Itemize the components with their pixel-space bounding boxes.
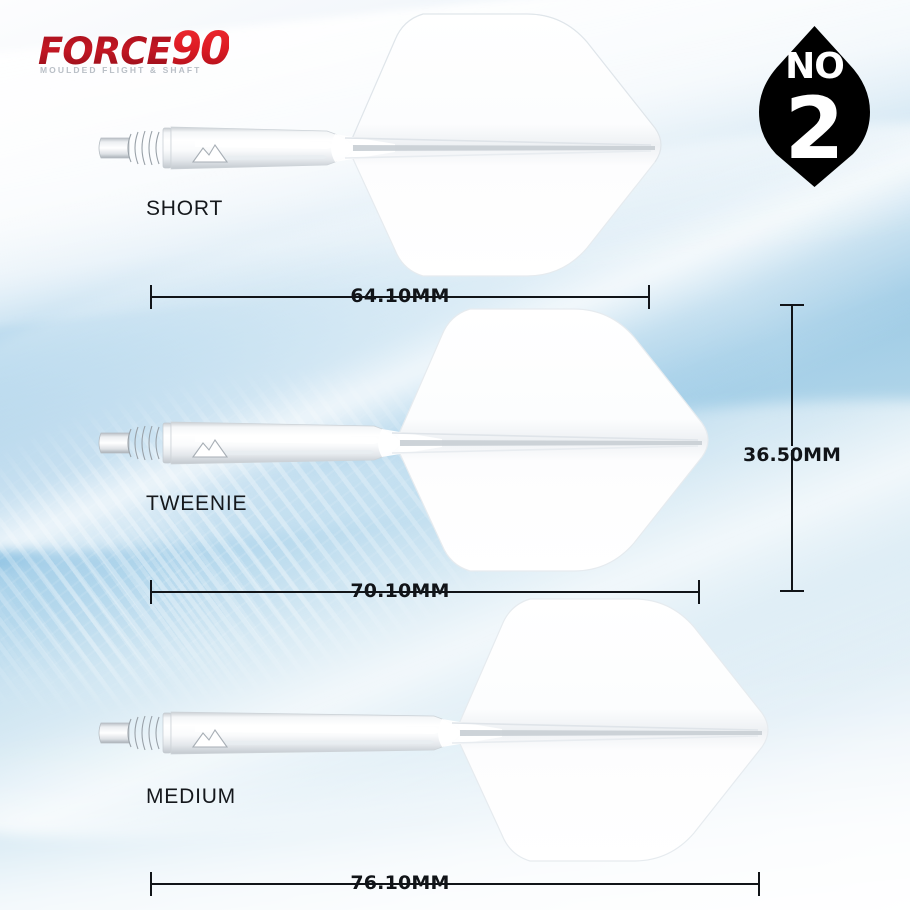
badge-number: 2 — [785, 79, 845, 179]
product-spec-image: FORCE90 MOULDED FLIGHT & SHAFT NO 2 — [0, 0, 910, 910]
dimension-cap-left — [150, 872, 152, 896]
shaft-short — [99, 127, 353, 169]
product-label-medium: MEDIUM — [146, 785, 236, 809]
shaft-thread-icon — [128, 426, 159, 460]
dimension-rule-lower — [791, 450, 793, 590]
dimension-cap-right — [758, 872, 760, 896]
shaft-medium — [99, 712, 460, 754]
dart-assembly-medium — [95, 585, 815, 885]
dart-assembly-tweenie — [95, 295, 755, 595]
shaft-thread-icon — [128, 716, 159, 750]
dimension-rule-upper — [791, 306, 793, 446]
product-label-short: SHORT — [146, 197, 223, 221]
shaft-tweenie — [99, 422, 400, 464]
product-label-tweenie: TWEENIE — [146, 492, 247, 516]
shaft-thread-icon — [128, 131, 159, 165]
dimension-cap-bottom — [780, 590, 804, 592]
dimension-height-value: 36.50MM — [743, 444, 841, 466]
flight-shape-badge: NO 2 — [757, 24, 872, 189]
dimension-medium-length: 76.10MM — [150, 870, 760, 896]
dart-assembly-short — [95, 0, 715, 300]
dimension-medium-value: 76.10MM — [343, 870, 456, 896]
dimension-flight-height: 36.50MM — [779, 304, 805, 592]
